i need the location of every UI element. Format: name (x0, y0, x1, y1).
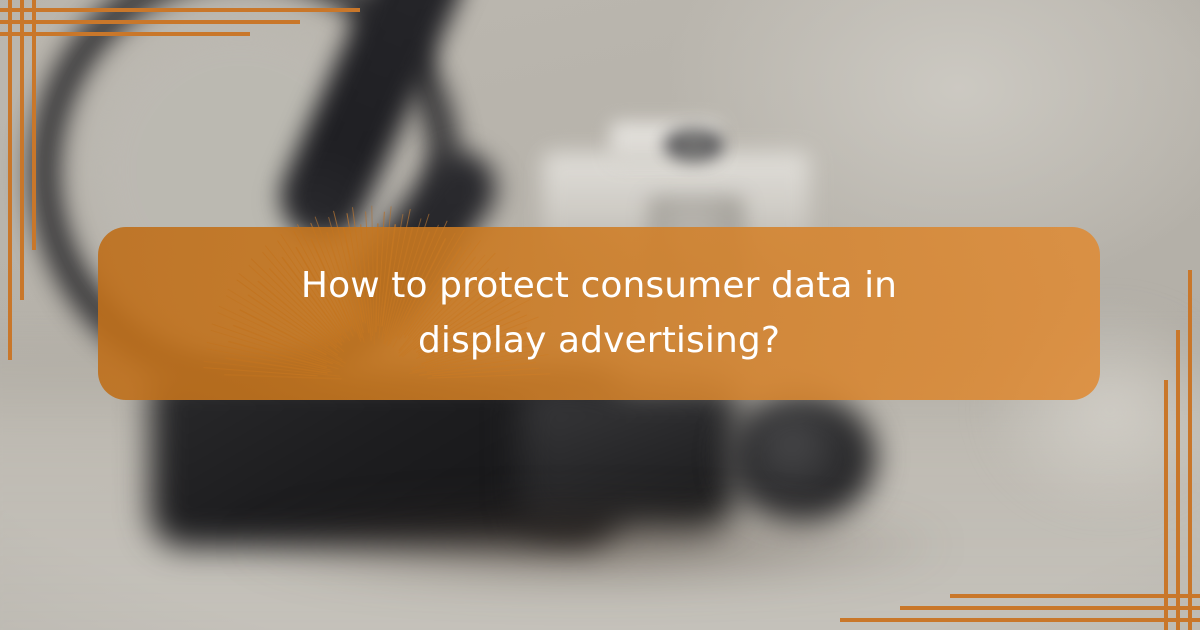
title-banner: How to protect consumer data in display … (98, 227, 1100, 400)
share-card: How to protect consumer data in display … (0, 0, 1200, 630)
page-title: How to protect consumer data in display … (249, 259, 949, 368)
